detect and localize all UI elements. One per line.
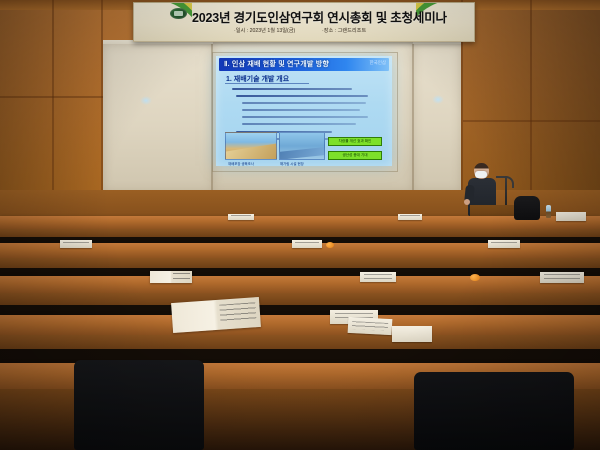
wall-light-spot: [140, 96, 152, 105]
slide-title-right-label: 한국인삼: [369, 60, 386, 66]
acoustic-panel-left: [103, 44, 213, 192]
projection-slide: Ⅱ. 인삼 재배 현황 및 연구개발 방향 한국인삼 1. 재배기술 개발 개요…: [216, 56, 392, 166]
slide-figure-caption-1: 재배포장 생육조사: [228, 161, 254, 166]
slide-title: Ⅱ. 인삼 재배 현황 및 연구개발 방향: [224, 59, 329, 69]
slide-figure-2: [279, 132, 325, 160]
slide-text-line: [242, 102, 366, 104]
wall-seam: [52, 0, 54, 190]
wall-light-spot: [432, 95, 444, 104]
slide-callout-1: 차광률 개선 효과 확인: [328, 137, 382, 146]
slide-text-line: [232, 88, 352, 90]
chair-back: [414, 372, 574, 450]
banner-title: 2023년 경기도인삼연구회 연시총회 및 초청세미나: [192, 7, 462, 26]
desk-front-row-4: [0, 335, 600, 349]
slide-callout-2: 생산성 증대 기대: [328, 151, 382, 160]
slide-heading-underline: [225, 83, 309, 84]
handout-paper: [360, 272, 396, 282]
desk-row-3: [0, 276, 600, 293]
booklet: [150, 271, 192, 283]
panel-seam: [412, 44, 414, 192]
desk-front-row-3: [0, 293, 600, 305]
slide-text-line: [242, 116, 368, 118]
handout-paper: [348, 317, 393, 335]
handout-paper: [392, 326, 432, 342]
slide-figure-1: [225, 132, 277, 160]
desk-row-1: [0, 216, 600, 229]
acoustic-panel-right: [413, 44, 461, 192]
slide-text-line: [242, 123, 356, 125]
chair-back: [74, 360, 204, 450]
tangerine: [470, 274, 480, 281]
handout-paper: [228, 214, 254, 220]
handout-paper: [398, 214, 422, 220]
row-gap: [0, 305, 600, 315]
tangerine: [326, 242, 334, 248]
wall-seam: [0, 96, 110, 98]
row-gap: [0, 268, 600, 276]
seminar-photo: Ⅱ. 인삼 재배 현황 및 연구개발 방향 한국인삼 1. 재배기술 개발 개요…: [0, 0, 600, 450]
association-logo-icon: [170, 8, 187, 19]
face-mask-icon: [475, 171, 487, 178]
handout-paper: [556, 212, 586, 221]
slide-text-line: [236, 95, 368, 97]
wall-seam: [463, 120, 600, 122]
event-banner: 2023년 경기도인삼연구회 연시총회 및 초청세미나 ·일시 : 2023년 …: [133, 2, 475, 42]
banner-place: ·장소 : 그랜드리조트: [322, 27, 366, 34]
handout-paper: [540, 272, 584, 283]
desk-row-4: [0, 315, 600, 335]
desk-front-row-1: [0, 229, 600, 237]
chair-back: [514, 196, 540, 220]
handout-paper: [60, 240, 92, 248]
water-bottle: [546, 205, 551, 218]
desk-front-row-2: [0, 258, 600, 268]
slide-figure-caption-2: 해가림 시설 현장: [280, 161, 304, 166]
slide-text-line: [242, 109, 360, 111]
booklet: [171, 297, 261, 333]
handout-paper: [488, 240, 520, 248]
handout-paper: [292, 240, 322, 248]
wall-seam: [530, 0, 532, 192]
banner-date: ·일시 : 2023년 1월 13일(금): [234, 27, 295, 34]
